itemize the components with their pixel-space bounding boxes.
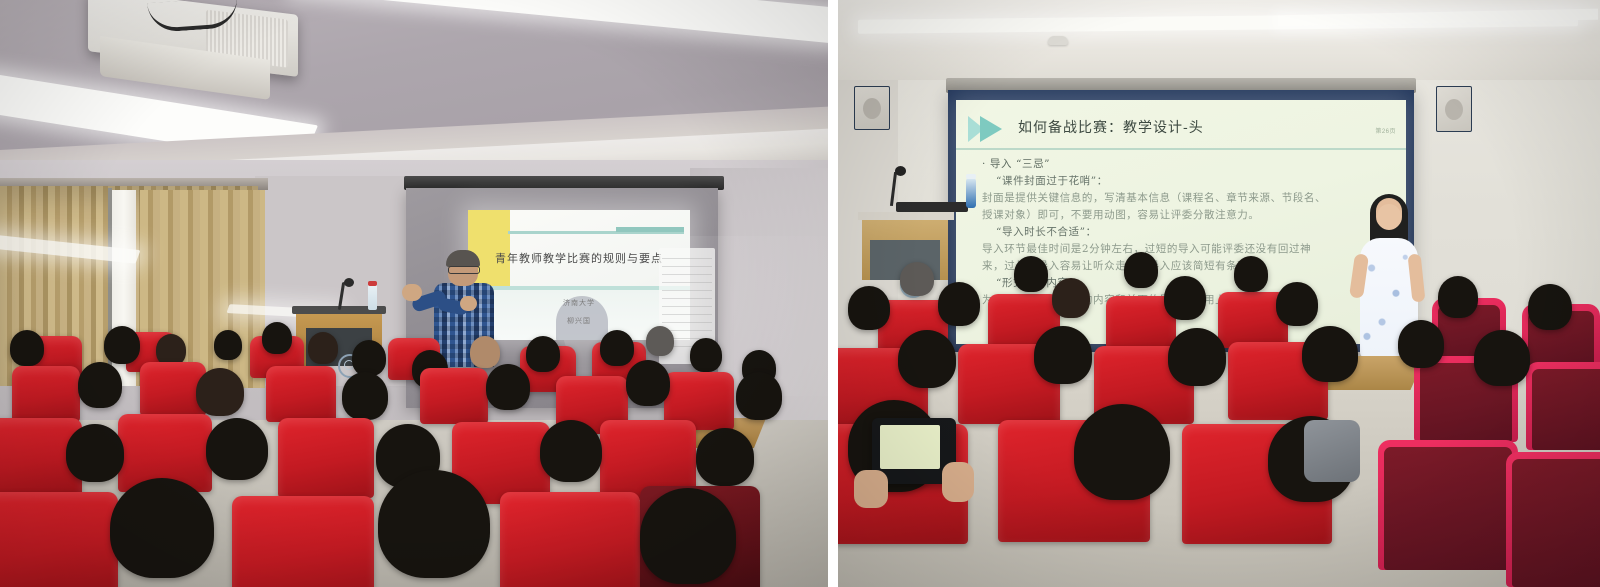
audience-head-foreground: [378, 470, 490, 578]
audience-head: [1474, 330, 1530, 386]
audience-head: [1124, 252, 1158, 288]
slide-subtitle-name: 柳兴国: [468, 316, 690, 326]
audience-head: [540, 420, 602, 482]
water-bottle-cap: [966, 174, 976, 179]
audience-head: [10, 330, 44, 366]
tablet-screen-preview: [880, 425, 940, 469]
seat: [1506, 452, 1600, 587]
audience-head: [352, 340, 386, 376]
seat: [500, 492, 640, 587]
audience-head: [206, 418, 268, 480]
slide-page-label: 第26页: [1375, 126, 1396, 135]
seat: [1378, 440, 1518, 570]
photo-right-lecture-hall: 如何备战比赛：教学设计-头 第26页 · 导入 “三忌” “课件封面过于花哨”：…: [838, 0, 1600, 587]
slide-header: 如何备战比赛：教学设计-头 第26页: [956, 114, 1406, 146]
presenter-left-hand: [402, 284, 422, 301]
audience-head: [600, 330, 634, 366]
audience-head: [1234, 256, 1268, 292]
seat: [266, 366, 336, 422]
audience-head: [526, 336, 560, 372]
presenter-face: [1377, 204, 1401, 230]
slide-line: 封面是提供关键信息的，写清基本信息（课程名、章节来源、节段名、: [982, 190, 1392, 207]
slide-line: · 导入 “三忌”: [982, 156, 1392, 173]
audience-head: [1052, 278, 1090, 318]
glasses-icon: [448, 266, 480, 274]
smoke-detector-icon: [1048, 36, 1068, 45]
audience-head-foreground: [1074, 404, 1170, 500]
audience-head: [214, 330, 242, 360]
slide-line: “课件封面过于花哨”：: [982, 173, 1392, 190]
image-pair-canvas: 青年教师教学比赛的规则与要点 济南大学 柳兴国: [0, 0, 1600, 587]
audience-head: [626, 360, 670, 406]
slide-subtitle-org: 济南大学: [468, 298, 690, 308]
water-bottle: [368, 284, 377, 310]
seat: [12, 366, 80, 422]
water-bottle-cap: [368, 281, 377, 286]
seat: [420, 368, 488, 424]
seat: [0, 492, 118, 587]
audience-head-foreground: [110, 478, 214, 578]
laptop: [896, 202, 968, 212]
seat: [278, 418, 374, 498]
slide-line: 授课对象）即可，不要用动图，容易让评委分散注意力。: [982, 207, 1392, 224]
panel-divider: [828, 0, 838, 587]
audience-head: [736, 372, 782, 420]
presenter-right-hand: [460, 296, 477, 311]
slide-title: 青年教师教学比赛的规则与要点: [468, 250, 690, 266]
attendee-hand: [942, 462, 974, 502]
lectern-top: [858, 212, 954, 220]
audience-head: [690, 338, 722, 372]
audience-head: [848, 286, 890, 330]
slide-rule-accent: [616, 227, 684, 232]
audience-head: [696, 428, 754, 486]
microphone-icon: [895, 166, 906, 176]
audience-head: [342, 372, 388, 420]
audience-head: [104, 326, 140, 364]
seat: [1526, 362, 1600, 450]
slide-header-text: 如何备战比赛：教学设计-头: [1018, 117, 1204, 137]
audience-head: [66, 424, 124, 482]
chevron-right-icon: [980, 116, 1002, 142]
audience-head: [900, 262, 934, 296]
audience-head: [1438, 276, 1478, 318]
slide-line: 导入环节最佳时间是2分钟左右，过短的导入可能评委还没有回过神: [982, 241, 1392, 258]
audience-head: [1014, 256, 1048, 292]
audience-head: [1302, 326, 1358, 382]
audience-head: [1034, 326, 1092, 384]
seat: [232, 496, 374, 587]
audience-head: [262, 322, 292, 354]
audience-head-foreground: [640, 488, 736, 584]
audience-head: [196, 368, 244, 416]
audience-head: [78, 362, 122, 408]
audience-head: [1164, 276, 1206, 320]
photo-left-lecture-hall: 青年教师教学比赛的规则与要点 济南大学 柳兴国: [0, 0, 828, 587]
audience-head: [470, 336, 500, 368]
audience-head: [646, 326, 674, 356]
slide-header-rule: [956, 148, 1406, 150]
attendee-hand: [854, 470, 888, 508]
audience-head: [898, 330, 956, 388]
audience-head: [1398, 320, 1444, 368]
wall-speaker-icon: [1436, 86, 1472, 132]
presenter-hair: [446, 250, 480, 267]
water-bottle: [966, 178, 976, 208]
audience-head: [1168, 328, 1226, 386]
wall-speaker-icon: [854, 86, 890, 130]
audience-head: [486, 364, 530, 410]
microphone-icon: [344, 278, 354, 287]
backpack: [1304, 420, 1360, 482]
slide-left: 青年教师教学比赛的规则与要点 济南大学 柳兴国: [468, 210, 690, 340]
audience-head: [1528, 284, 1572, 330]
audience-head: [1276, 282, 1318, 326]
audience-head: [938, 282, 980, 326]
audience-head: [308, 332, 338, 364]
slide-line: “导入时长不合适”：: [982, 224, 1392, 241]
